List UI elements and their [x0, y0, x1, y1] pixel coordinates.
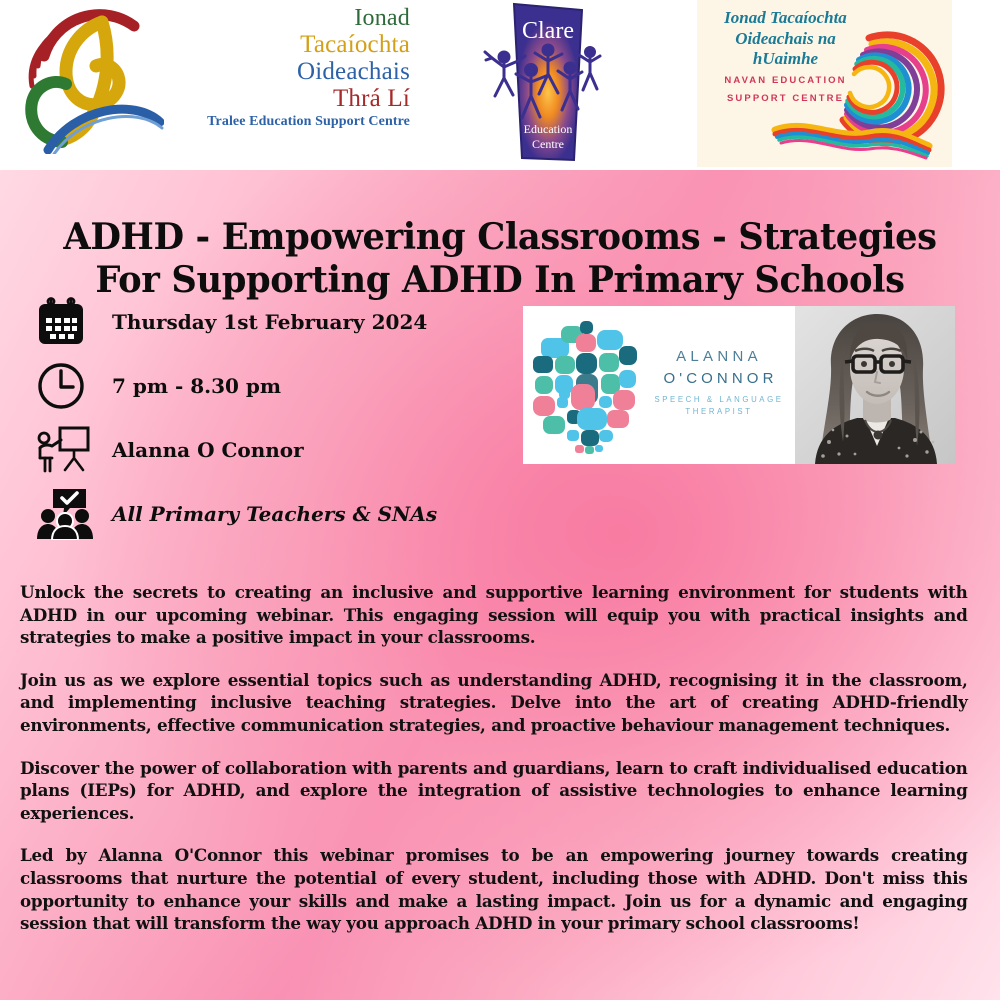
event-audience-text: All Primary Teachers & SNAs	[112, 502, 437, 526]
event-detail-date: Thursday 1st February 2024	[36, 290, 506, 354]
speaker-role-line-1: SPEECH & LANGUAGE	[645, 394, 793, 406]
clare-logo-bottom-line2: Centre	[532, 137, 564, 151]
tralee-subtitle: Tralee Education Support Centre	[132, 115, 410, 129]
navan-education-support-centre-logo: Ionad Tacaíochta Oideachais na hUaimhe N…	[697, 0, 952, 167]
navan-subtitle-2: SUPPORT CENTRE	[703, 92, 868, 106]
clock-icon	[36, 357, 98, 415]
description-paragraphs: Unlock the secrets to creating an inclus…	[20, 582, 982, 936]
event-detail-speaker: Alanna O Connor	[36, 418, 506, 482]
event-time-text: 7 pm - 8.30 pm	[112, 374, 281, 398]
logo-band: Ionad Tacaíochta Oideachais Thrá Lí Tral…	[0, 0, 1000, 170]
paragraph-1: Unlock the secrets to creating an inclus…	[20, 582, 968, 650]
tralee-line-1: Ionad	[132, 6, 410, 30]
event-detail-time: 7 pm - 8.30 pm	[36, 354, 506, 418]
tralee-line-3: Oideachais	[132, 59, 410, 84]
clare-logo-graphic: Clare Education Centre	[478, 0, 608, 168]
tralee-logo-text: Ionad Tacaíochta Oideachais Thrá Lí Tral…	[132, 6, 410, 129]
navan-line-1: Ionad Tacaíochta	[703, 8, 868, 29]
clare-logo-bottom-line1: Education	[524, 122, 573, 136]
speaker-card: ALANNA O'CONNOR SPEECH & LANGUAGE THERAP…	[523, 306, 955, 464]
paragraph-4: Led by Alanna O'Connor this webinar prom…	[20, 845, 968, 935]
speaker-portrait-photo	[795, 306, 955, 464]
speaker-name-line-2: O'CONNOR	[648, 368, 793, 390]
audience-group-icon	[36, 485, 98, 543]
page-title: ADHD - Empowering Classrooms - Strategie…	[35, 216, 964, 301]
navan-subtitle-1: NAVAN EDUCATION	[703, 74, 868, 88]
event-detail-audience: All Primary Teachers & SNAs	[36, 482, 506, 546]
tralee-line-2: Tacaíochta	[132, 32, 410, 57]
speaker-portrait-graphic	[795, 306, 955, 464]
speaker-brand-text: ALANNA O'CONNOR SPEECH & LANGUAGE THERAP…	[645, 346, 793, 418]
speaker-role-line-2: THERAPIST	[645, 406, 793, 418]
clare-figure-5	[579, 48, 600, 91]
navan-line-3: hUaimhe	[703, 49, 868, 70]
poster-content: ADHD - Empowering Classrooms - Strategie…	[0, 170, 1000, 1000]
paragraph-2: Join us as we explore essential topics s…	[20, 670, 968, 738]
presenter-whiteboard-icon	[36, 421, 98, 479]
event-speaker-text: Alanna O Connor	[112, 438, 304, 462]
navan-line-2: Oideachais na	[703, 29, 868, 50]
clare-education-centre-logo: Clare Education Centre	[478, 0, 608, 168]
tralee-line-4: Thrá Lí	[132, 86, 410, 111]
webinar-poster: Ionad Tacaíochta Oideachais Thrá Lí Tral…	[0, 0, 1000, 1000]
paragraph-3: Discover the power of collaboration with…	[20, 758, 968, 826]
speaker-brand-panel: ALANNA O'CONNOR SPEECH & LANGUAGE THERAP…	[523, 306, 795, 464]
event-details-list: Thursday 1st February 2024 7 pm - 8.30 p…	[36, 290, 506, 546]
calendar-icon	[36, 293, 98, 351]
speech-bubble-cluster-icon	[531, 312, 641, 458]
event-date-text: Thursday 1st February 2024	[112, 310, 427, 334]
speaker-name-line-1: ALANNA	[645, 346, 793, 368]
tralee-education-support-centre-logo: Ionad Tacaíochta Oideachais Thrá Lí Tral…	[10, 2, 410, 167]
navan-logo-text: Ionad Tacaíochta Oideachais na hUaimhe N…	[703, 8, 868, 107]
clare-logo-top-text: Clare	[522, 18, 574, 44]
